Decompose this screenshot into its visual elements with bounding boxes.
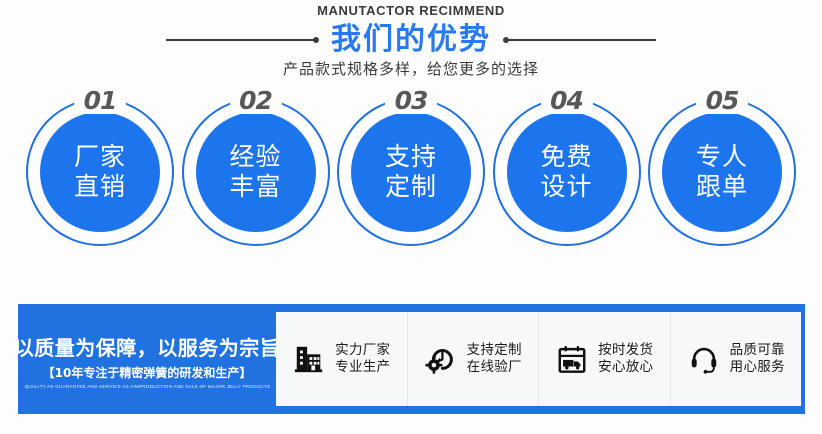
feature-item-factory: 实力厂家 专业生产: [276, 312, 408, 406]
bottom-banner: 以质量为保障，以服务为宗旨 【10年专注于精密弹簧的研发和生产】 QUALITY…: [18, 304, 805, 414]
gear-clock-icon: [424, 342, 458, 376]
header-eyebrow: MANUTACTOR RECIMMEND: [0, 3, 822, 18]
feature-label: 支持定制 在线验厂: [467, 342, 522, 376]
badge-number: 04: [541, 88, 593, 114]
calendar-truck-icon: [555, 342, 589, 376]
badge-label: 支持 定制: [385, 142, 437, 202]
promo-banner: MANUTACTOR RECIMMEND 我们的优势 产品款式规格多样，给您更多…: [0, 0, 822, 434]
advantage-badge-list: 厂家 直销 01 经验 丰富 02 支持 定制 03 免费 设计: [0, 88, 822, 278]
badge-disc: 专人 跟单: [662, 112, 782, 232]
feature-item-delivery: 按时发货 安心放心: [539, 312, 671, 406]
advantage-badge: 支持 定制 03: [337, 88, 485, 268]
badge-disc: 经验 丰富: [196, 112, 316, 232]
page-title: 我们的优势: [321, 23, 501, 57]
feature-label: 品质可靠 用心服务: [730, 342, 785, 376]
slogan-block: 以质量为保障，以服务为宗旨 【10年专注于精密弹簧的研发和生产】 QUALITY…: [18, 304, 276, 414]
feature-item-service: 品质可靠 用心服务: [671, 312, 802, 406]
feature-label: 实力厂家 专业生产: [335, 342, 390, 376]
headset-icon: [687, 342, 721, 376]
title-rule-left: [166, 39, 316, 41]
badge-disc: 厂家 直销: [40, 112, 160, 232]
title-rule-right: [506, 39, 656, 41]
badge-number: 02: [230, 88, 282, 114]
feature-label: 按时发货 安心放心: [598, 342, 653, 376]
badge-number: 03: [385, 88, 437, 114]
header-section: MANUTACTOR RECIMMEND 我们的优势 产品款式规格多样，给您更多…: [0, 0, 822, 92]
advantage-badge: 免费 设计 04: [493, 88, 641, 268]
feature-item-custom: 支持定制 在线验厂: [408, 312, 540, 406]
feature-list: 实力厂家 专业生产: [276, 312, 801, 406]
badge-disc: 支持 定制: [351, 112, 471, 232]
header-subtitle: 产品款式规格多样，给您更多的选择: [0, 58, 822, 79]
advantage-badge: 专人 跟单 05: [648, 88, 796, 268]
badge-number: 05: [696, 88, 748, 114]
badge-number: 01: [74, 88, 126, 114]
slogan-english: QUALITY AS GUARANTEE AND SERVICE AS AIMP…: [24, 384, 270, 389]
badge-label: 免费 设计: [540, 142, 592, 202]
badge-label: 专人 跟单: [696, 142, 748, 202]
advantage-badge: 厂家 直销 01: [26, 88, 174, 268]
slogan-headline: 以质量为保障，以服务为宗旨: [14, 332, 281, 361]
badge-label: 经验 丰富: [229, 142, 281, 202]
badge-label: 厂家 直销: [74, 142, 126, 202]
badge-disc: 免费 设计: [507, 112, 627, 232]
building-icon: [292, 342, 326, 376]
advantage-badge: 经验 丰富 02: [182, 88, 330, 268]
slogan-subline: 【10年专注于精密弹簧的研发和生产】: [43, 364, 252, 381]
header-title-row: 我们的优势: [0, 22, 822, 58]
